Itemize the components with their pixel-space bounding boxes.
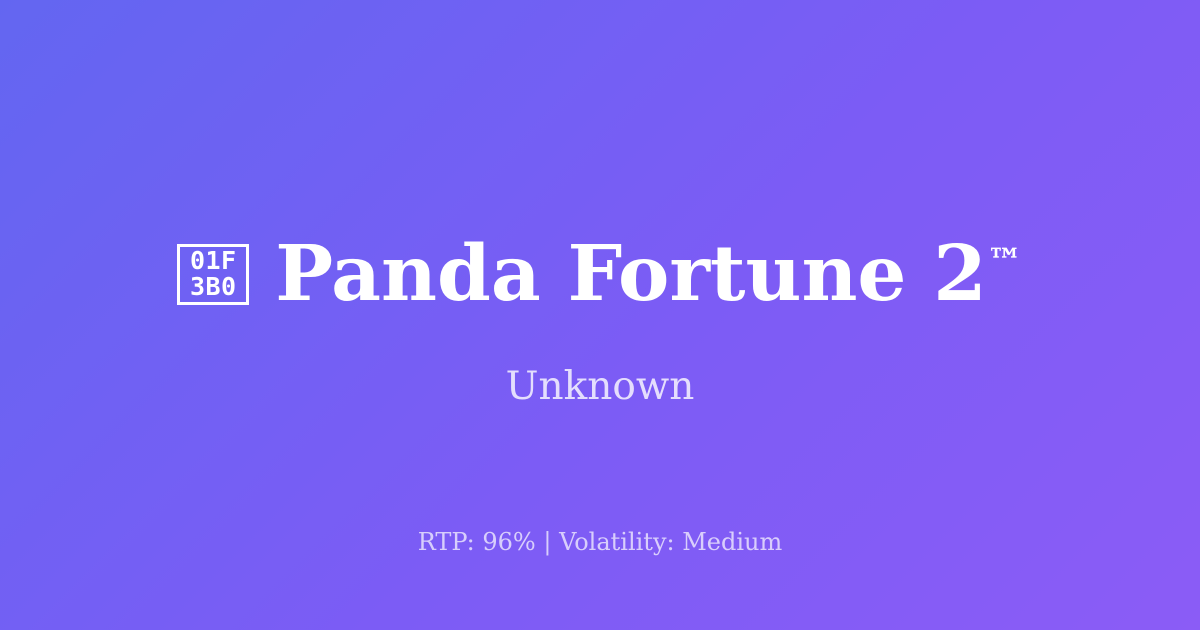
- trademark-symbol: ™: [987, 241, 1023, 282]
- slot-machine-icon: 01F 3B0: [177, 244, 249, 305]
- page-title: Panda Fortune 2™: [275, 231, 1022, 317]
- tofu-codepoint-lower: 3B0: [190, 274, 237, 300]
- provider-name: Unknown: [0, 363, 1200, 411]
- og-preview-card: 01F 3B0 Panda Fortune 2™ Unknown RTP: 96…: [0, 0, 1200, 630]
- tofu-codepoint-upper: 01F: [190, 248, 237, 274]
- game-name-text: Panda Fortune 2: [275, 229, 987, 319]
- title-block: 01F 3B0 Panda Fortune 2™: [0, 231, 1200, 317]
- game-meta-line: RTP: 96% | Volatility: Medium: [0, 527, 1200, 557]
